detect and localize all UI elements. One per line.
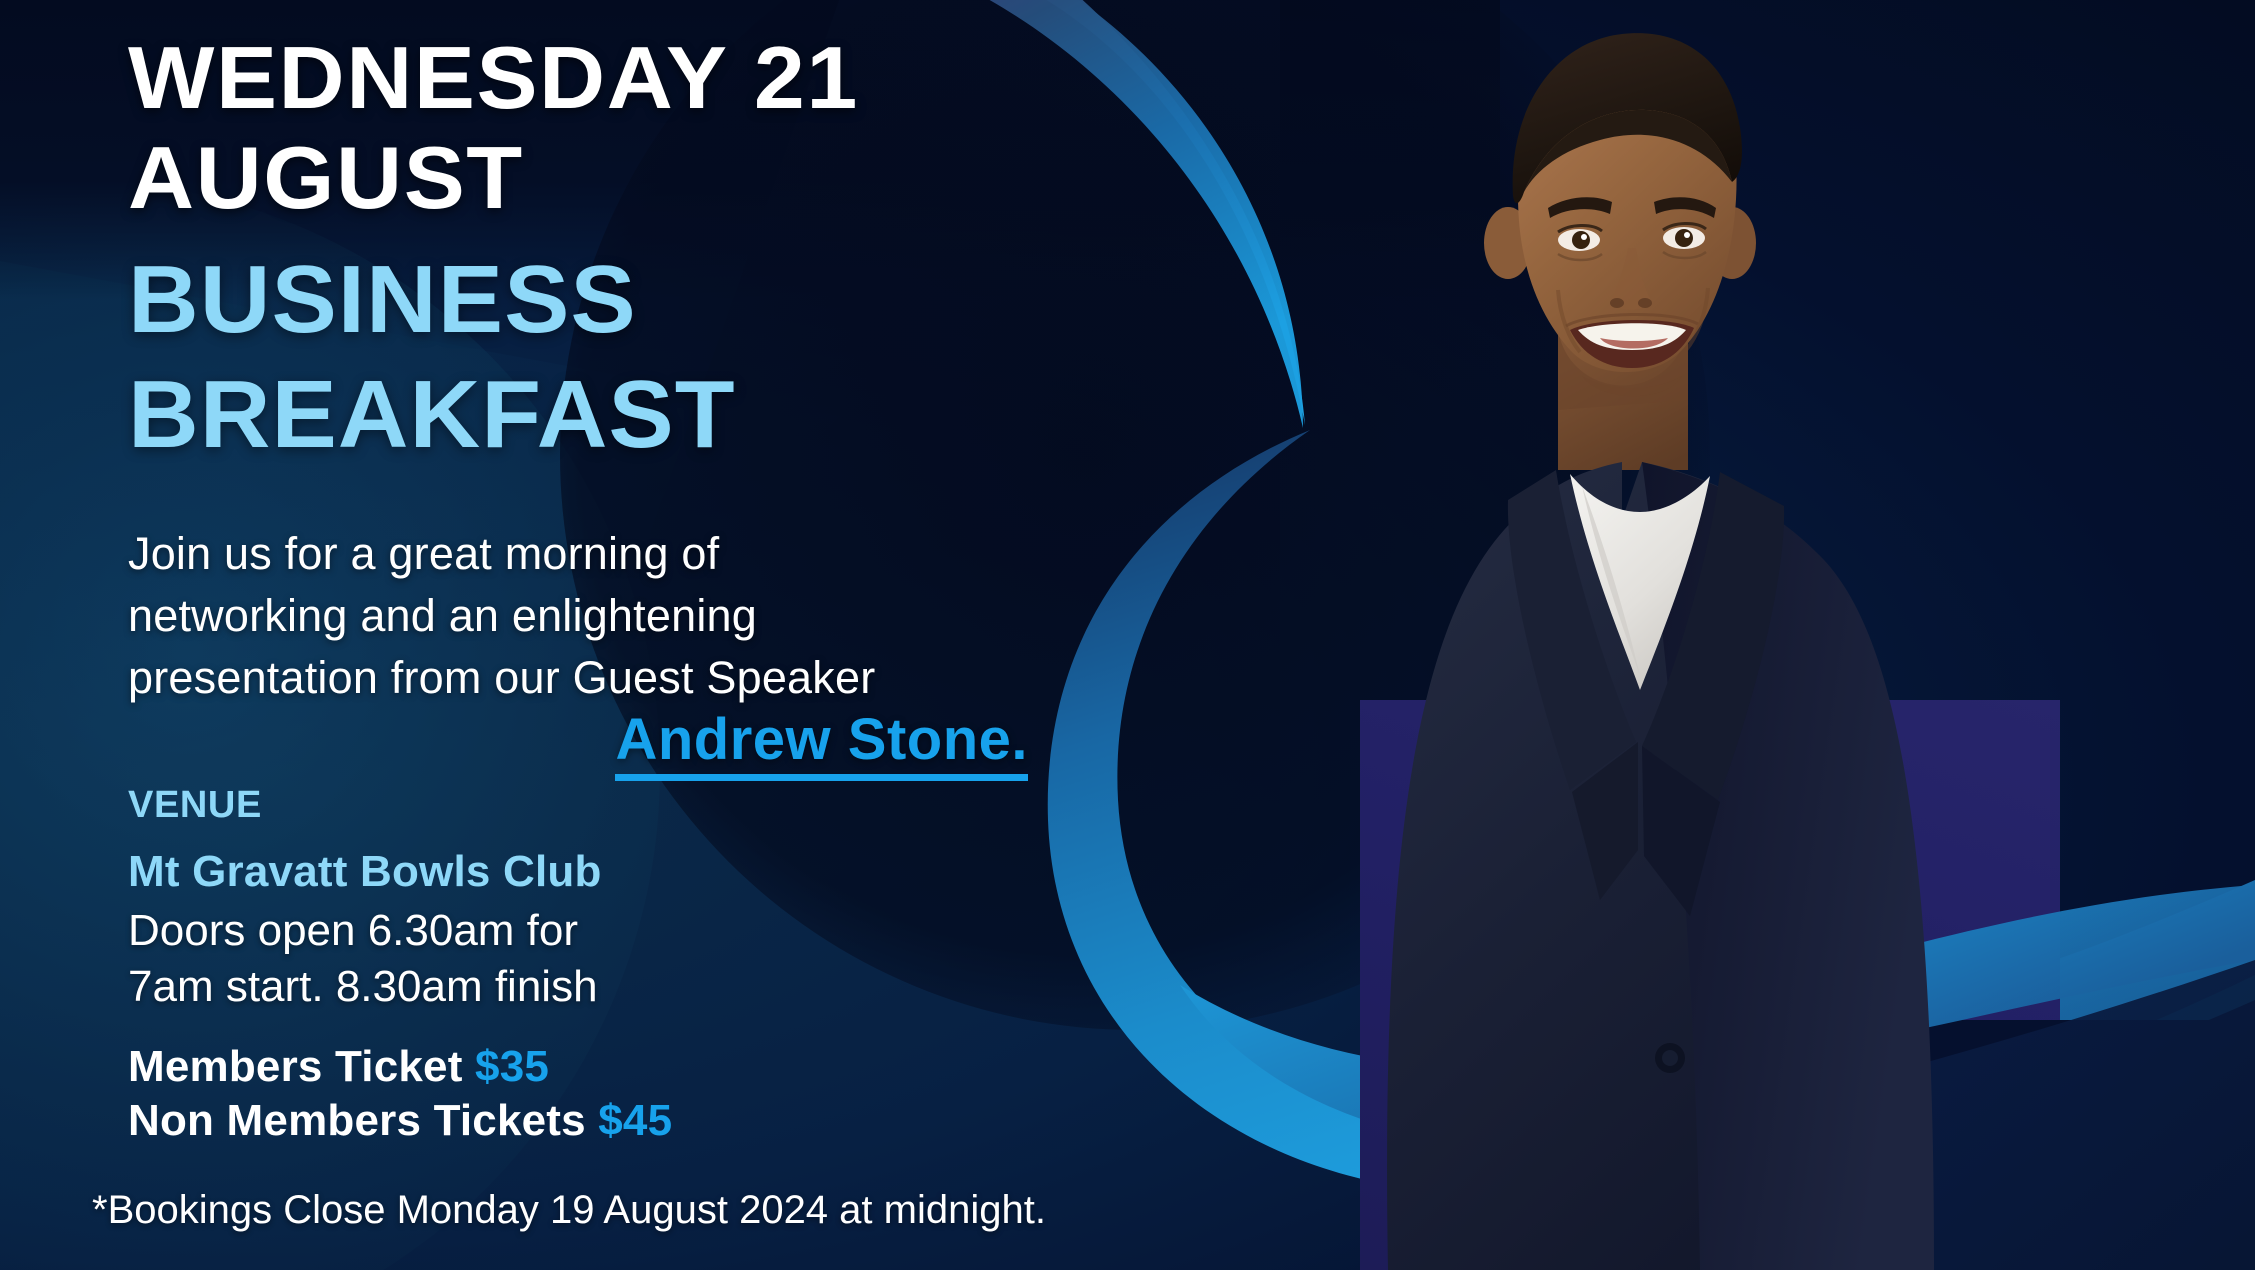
doors-open-line-1: Doors open 6.30am for [128, 903, 578, 959]
ticket-price-non-members: $45 [598, 1096, 672, 1145]
ticket-price-members: $35 [475, 1042, 549, 1091]
event-poster: WEDNESDAY 21 AUGUST BUSINESS BREAKFAST J… [0, 0, 2255, 1270]
intro-line-2: networking and an enlightening [128, 585, 1048, 647]
event-intro-paragraph: Join us for a great morning of networkin… [128, 523, 1048, 709]
venue-label: VENUE [128, 782, 262, 828]
bookings-footnote: *Bookings Close Monday 19 August 2024 at… [92, 1185, 1046, 1235]
guest-speaker-label: Andrew Stone. [615, 707, 1028, 781]
ticket-row-non-members: Non Members Tickets $45 [128, 1094, 672, 1148]
doors-open-line-2: 7am start. 8.30am finish [128, 959, 598, 1015]
ticket-row-members: Members Ticket $35 [128, 1040, 549, 1094]
event-date-line-2: AUGUST [128, 130, 524, 226]
event-title-line-1: BUSINESS [128, 250, 637, 350]
ticket-label-non-members: Non Members Tickets [128, 1096, 586, 1145]
ticket-label-members: Members Ticket [128, 1042, 463, 1091]
intro-line-3: presentation from our Guest Speaker [128, 647, 1048, 709]
guest-speaker-name: Andrew Stone. [128, 707, 1028, 781]
venue-name: Mt Gravatt Bowls Club [128, 845, 602, 899]
poster-text-column: WEDNESDAY 21 AUGUST BUSINESS BREAKFAST J… [128, 0, 1208, 1270]
event-title-line-2: BREAKFAST [128, 365, 736, 465]
speaker-photo [1270, 0, 2255, 1270]
intro-line-1: Join us for a great morning of [128, 523, 1048, 585]
event-date-line-1: WEDNESDAY 21 [128, 30, 859, 126]
